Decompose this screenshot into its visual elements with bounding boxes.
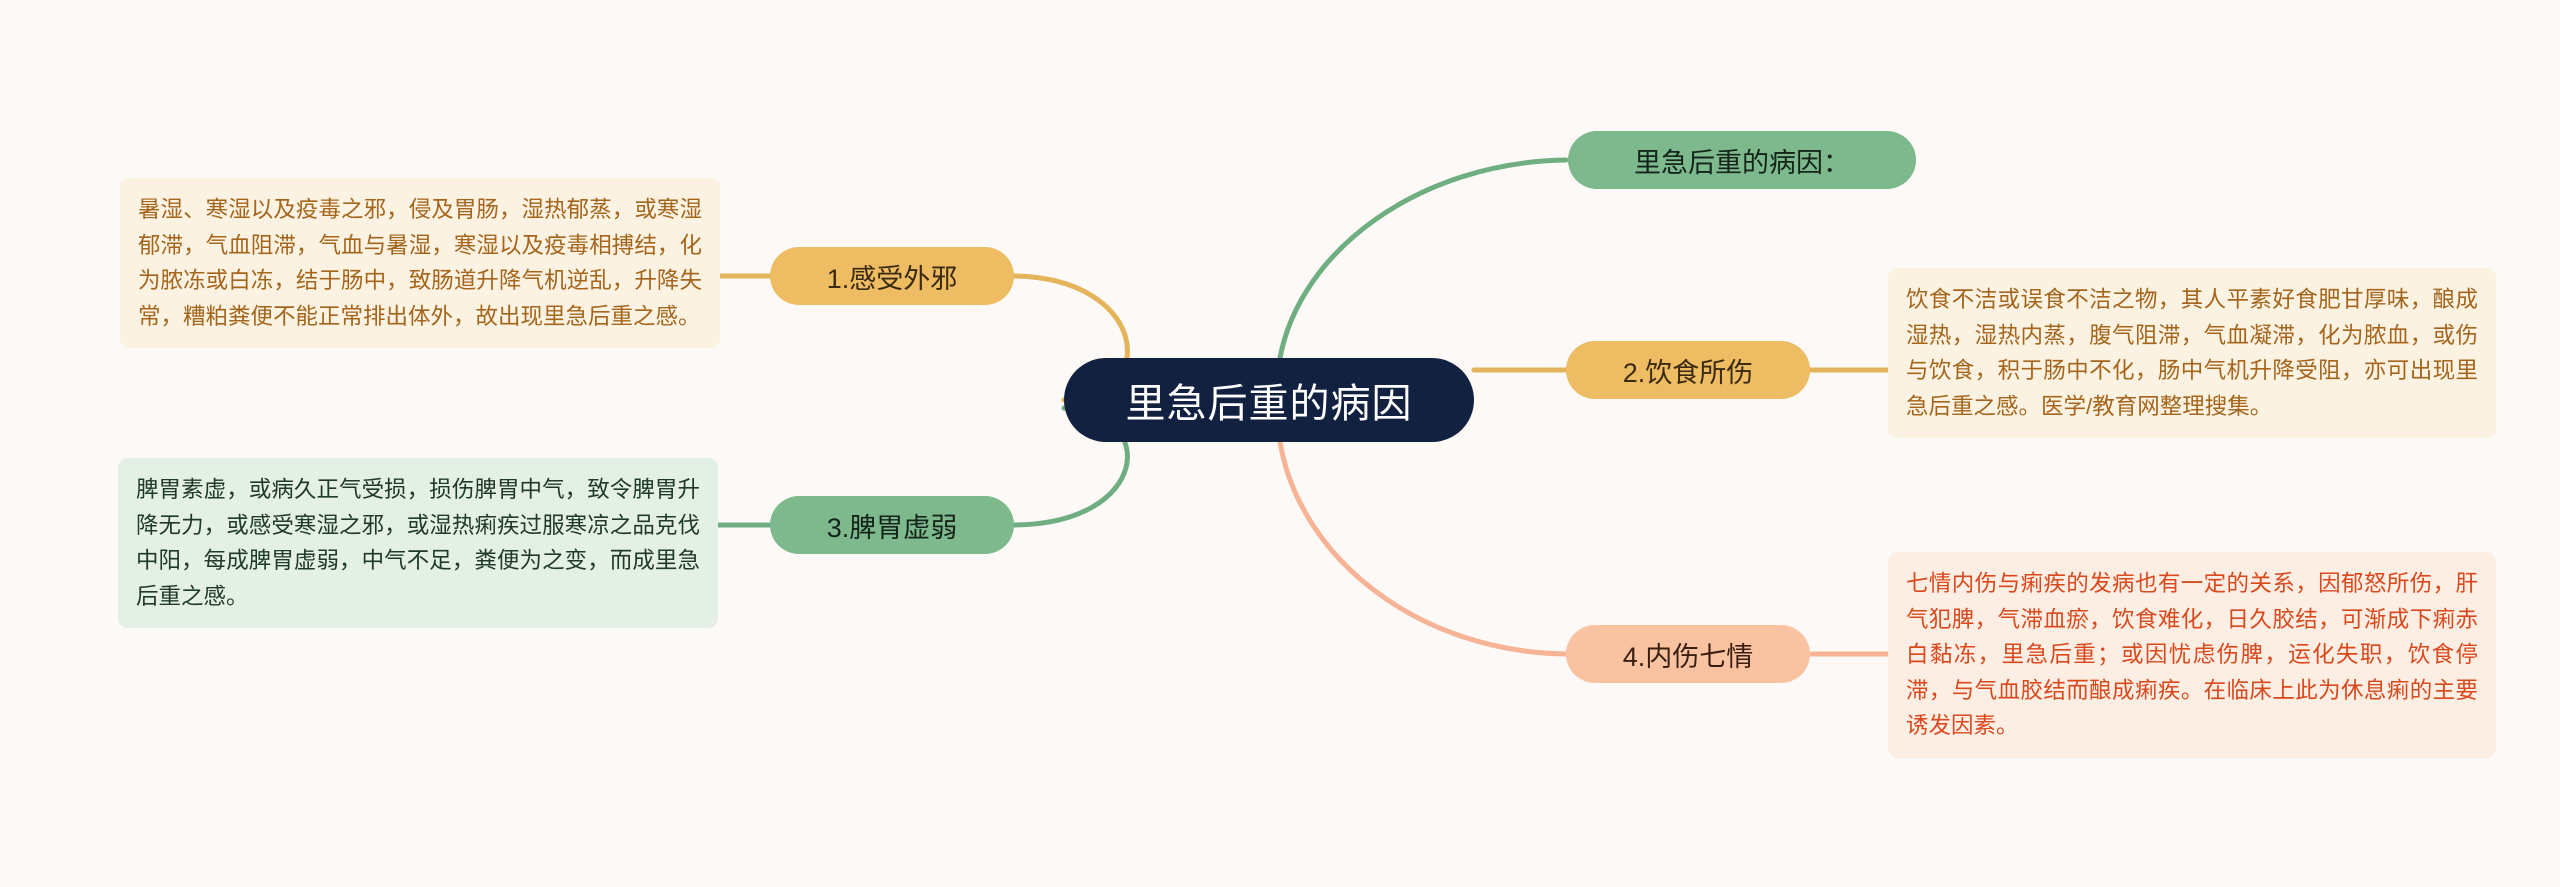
node-branch-2-label: 2.饮食所伤 bbox=[1623, 351, 1754, 390]
node-heading[interactable]: 里急后重的病因： bbox=[1568, 131, 1916, 189]
node-branch-1[interactable]: 1.感受外邪 bbox=[770, 247, 1014, 305]
connector-heading bbox=[1280, 160, 1566, 358]
description-card-4: 七情内伤与痢疾的发病也有一定的关系，因郁怒所伤，肝气犯脾，气滞血瘀，饮食难化，日… bbox=[1888, 552, 2496, 758]
mindmap-canvas: 里急后重的病因 里急后重的病因： 1.感受外邪 2.饮食所伤 3.脾胃虚弱 4.… bbox=[0, 0, 2560, 887]
node-branch-3[interactable]: 3.脾胃虚弱 bbox=[770, 496, 1014, 554]
node-heading-label: 里急后重的病因： bbox=[1634, 141, 1850, 180]
node-branch-4-label: 4.内伤七情 bbox=[1623, 635, 1754, 674]
node-branch-2[interactable]: 2.饮食所伤 bbox=[1566, 341, 1810, 399]
node-branch-3-label: 3.脾胃虚弱 bbox=[827, 506, 958, 545]
central-topic-label: 里急后重的病因 bbox=[1126, 371, 1413, 429]
description-card-1: 暑湿、寒湿以及疫毒之邪，侵及胃肠，湿热郁蒸，或寒湿郁滞，气血阻滞，气血与暑湿，寒… bbox=[120, 178, 720, 348]
description-card-3: 脾胃素虚，或病久正气受损，损伤脾胃中气，致令脾胃升降无力，或感受寒湿之邪，或湿热… bbox=[118, 458, 718, 628]
node-branch-4[interactable]: 4.内伤七情 bbox=[1566, 625, 1810, 683]
central-topic-node[interactable]: 里急后重的病因 bbox=[1064, 358, 1474, 442]
node-branch-1-label: 1.感受外邪 bbox=[827, 257, 958, 296]
description-card-2: 饮食不洁或误食不洁之物，其人平素好食肥甘厚味，酿成湿热，湿热内蒸，腹气阻滞，气血… bbox=[1888, 268, 2496, 438]
connector-branch-4 bbox=[1280, 442, 1566, 654]
